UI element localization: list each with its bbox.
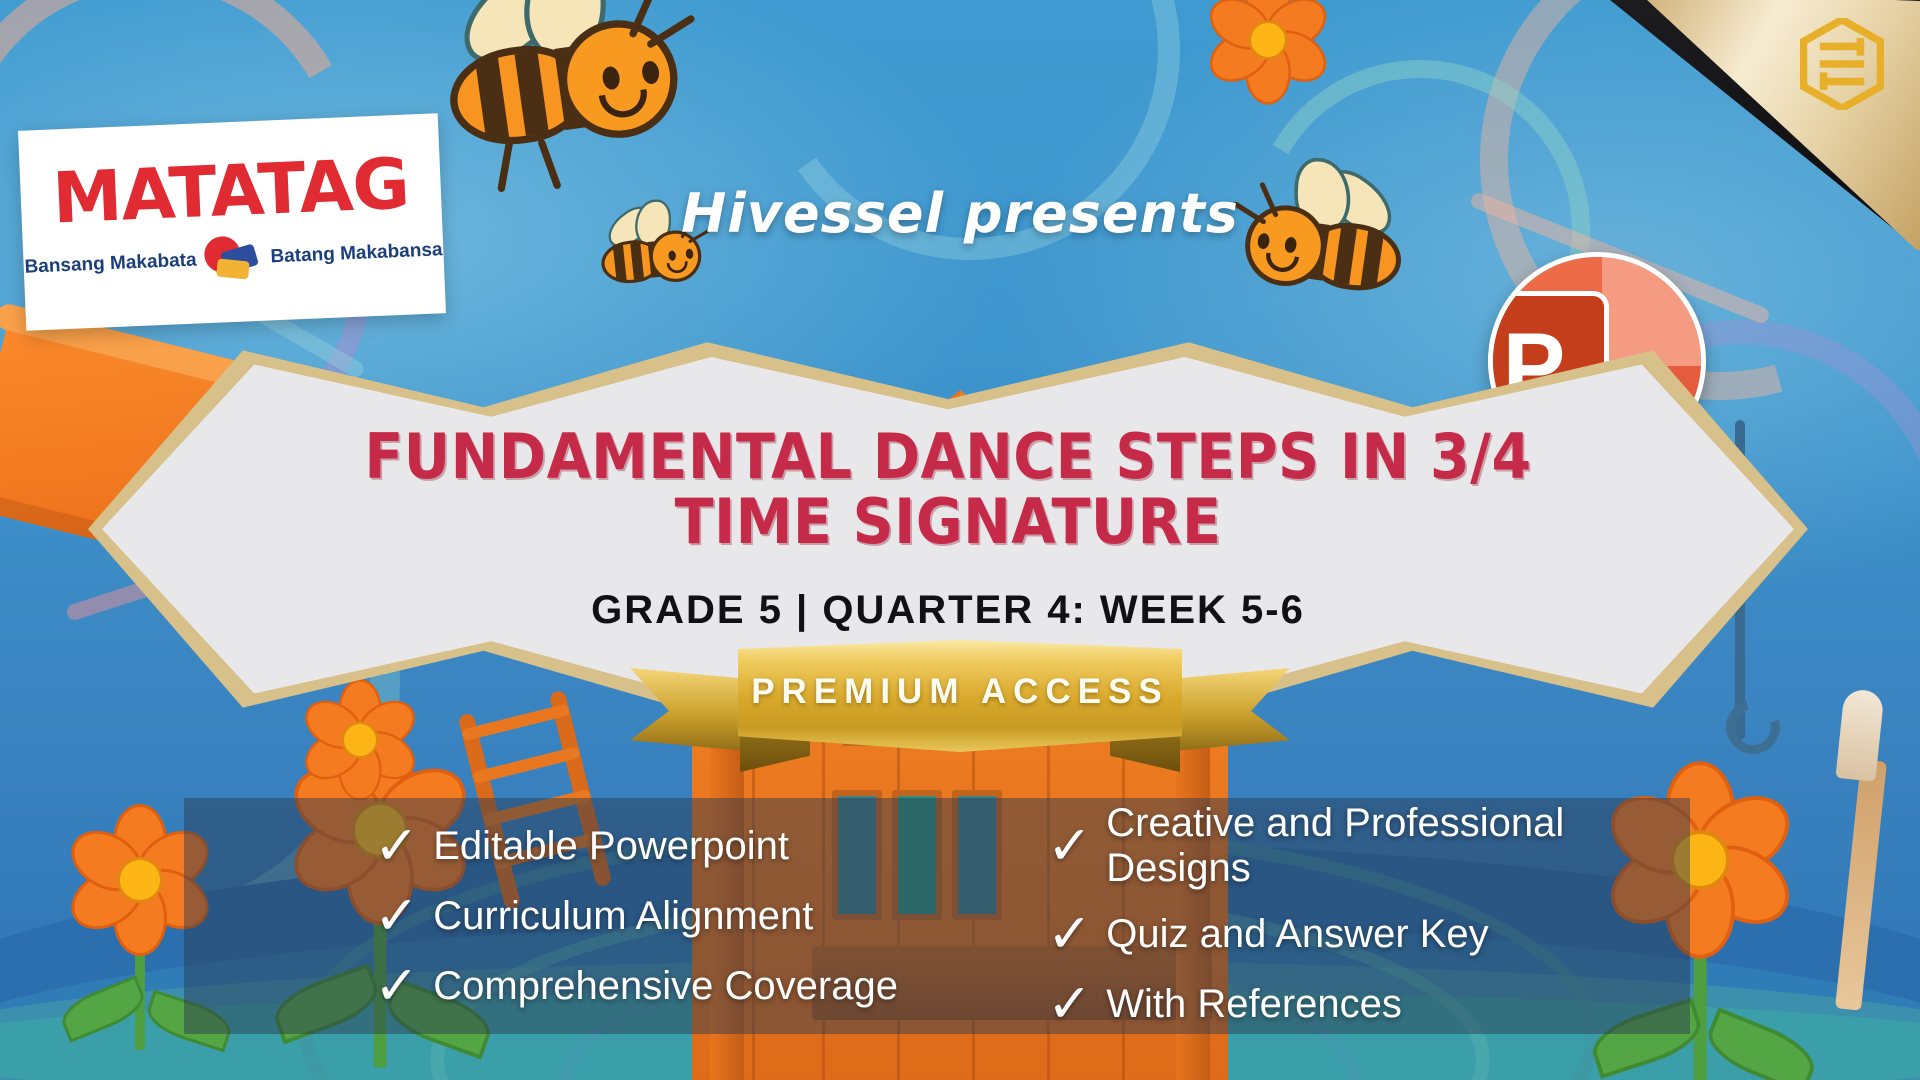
check-mark-icon: ✓ [1047,907,1092,961]
check-mark-icon: ✓ [1047,977,1092,1031]
page-subtitle: GRADE 5 | QUARTER 4: WEEK 5-6 [591,588,1305,633]
check-mark-icon: ✓ [1047,819,1092,873]
decorative-swirl [727,0,1214,293]
feature-label: Quiz and Answer Key [1106,912,1488,957]
features-column-right: ✓ Creative and Professional Designs ✓ Qu… [1017,801,1690,1031]
feature-item: ✓ Creative and Professional Designs [1047,801,1690,891]
check-mark-icon: ✓ [374,889,419,943]
feature-label: Comprehensive Coverage [433,964,898,1009]
matatag-tagline-left: Bansang Makabata [24,250,197,279]
feature-item: ✓ Quiz and Answer Key [1047,907,1690,961]
page-title: FUNDAMENTAL DANCE STEPS IN 3/4 TIME SIGN… [313,425,1583,554]
clasped-hands-emblem-icon [202,235,266,284]
matatag-tagline-right: Batang Makabansa [270,239,443,268]
premium-access-ribbon: PREMIUM ACCESS [630,640,1290,768]
feature-item: ✓ Comprehensive Coverage [374,959,1017,1013]
features-column-left: ✓ Editable Powerpoint ✓ Curriculum Align… [184,819,1017,1013]
feature-label: With References [1106,982,1402,1027]
matatag-logo-card: MATATAG Bansang Makabata Batang Makabans… [18,113,446,330]
feature-item: ✓ Editable Powerpoint [374,819,1017,873]
page-curl-corner [1610,0,1920,250]
features-panel: ✓ Editable Powerpoint ✓ Curriculum Align… [184,798,1690,1034]
feature-label: Curriculum Alignment [433,894,813,939]
ribbon-banner: PREMIUM ACCESS [738,640,1182,752]
feature-label: Creative and Professional Designs [1106,801,1690,891]
hexagon-honeycomb-logo-icon [1800,18,1884,110]
feature-label: Editable Powerpoint [433,824,789,869]
feature-item: ✓ With References [1047,977,1690,1031]
premium-access-label: PREMIUM ACCESS [751,672,1169,712]
matatag-wordmark: MATATAG [18,113,442,234]
slide-canvas: Hivessel presents MATATAG Bansang Makaba… [0,0,1920,1080]
feature-item: ✓ Curriculum Alignment [374,889,1017,943]
check-mark-icon: ✓ [374,959,419,1013]
check-mark-icon: ✓ [374,819,419,873]
